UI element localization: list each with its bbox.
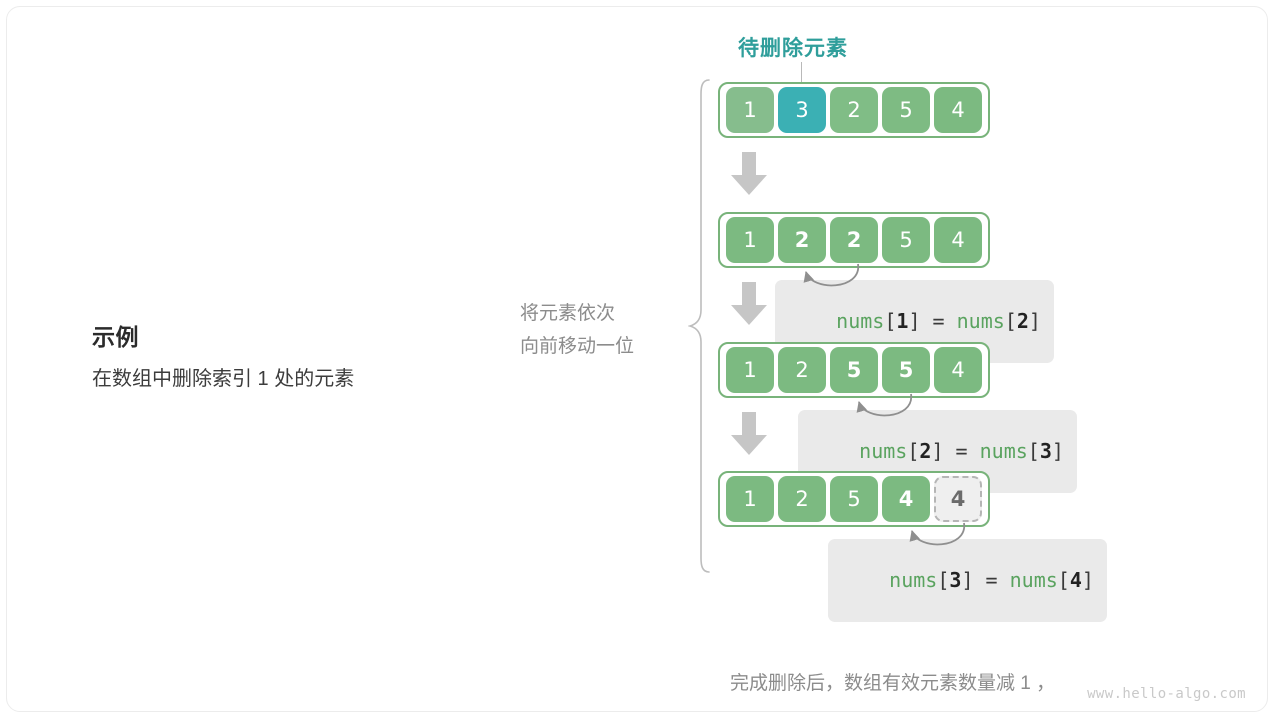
delete-target-label: 待删除元素 [738, 32, 848, 62]
array-cell[interactable]: 2 [830, 87, 878, 133]
array-cell-changed[interactable]: 2 [778, 217, 826, 263]
code-bracket-close: ] [1082, 568, 1094, 592]
example-caption: 示例 在数组中删除索引 1 处的元素 [92, 320, 492, 396]
array-row-step1: 1 2 2 5 4 [718, 212, 990, 268]
code-bracket-open: [ [884, 309, 896, 333]
code-bracket-open: [ [937, 568, 949, 592]
code-identifier: nums [980, 439, 1028, 463]
code-equals: = [973, 568, 1009, 592]
down-arrow-icon [729, 152, 769, 196]
array-cell[interactable]: 5 [830, 476, 878, 522]
array-cell-changed[interactable]: 4 [882, 476, 930, 522]
watermark: www.hello-algo.com [1087, 686, 1246, 702]
array-cell-source[interactable]: 2 [830, 217, 878, 263]
code-equals: = [943, 439, 979, 463]
code-equals: = [920, 309, 956, 333]
array-cell[interactable]: 5 [882, 87, 930, 133]
array-cell[interactable]: 2 [778, 347, 826, 393]
code-bracket-close: ] [1052, 439, 1064, 463]
array-cell[interactable]: 1 [726, 476, 774, 522]
code-index: 3 [1040, 439, 1052, 463]
array-row-initial: 1 3 2 5 4 [718, 82, 990, 138]
array-cell[interactable]: 1 [726, 347, 774, 393]
code-index: 2 [919, 439, 931, 463]
array-row-step2: 1 2 5 5 4 [718, 342, 990, 398]
code-index: 2 [1017, 309, 1029, 333]
array-cell[interactable]: 4 [934, 87, 982, 133]
array-cell[interactable]: 2 [778, 476, 826, 522]
code-bracket-close: ] [961, 568, 973, 592]
example-title: 示例 [92, 320, 492, 354]
example-subtitle: 在数组中删除索引 1 处的元素 [92, 362, 492, 396]
array-cell[interactable]: 4 [934, 347, 982, 393]
code-bracket-open: [ [1005, 309, 1017, 333]
shift-annotation: 将元素依次 向前移动一位 [520, 297, 680, 363]
array-cell[interactable]: 5 [882, 217, 930, 263]
code-bracket-open: [ [1028, 439, 1040, 463]
shift-annotation-line1: 将元素依次 [520, 297, 680, 330]
code-identifier: nums [836, 309, 884, 333]
result-note-line1: 完成删除后，数组有效元素数量减 1 ， [730, 666, 1055, 702]
result-note: 完成删除后，数组有效元素数量减 1 ， 末尾元素 4 已无意义，无需特意修改 [730, 594, 1055, 720]
code-identifier: nums [859, 439, 907, 463]
array-cell[interactable]: 1 [726, 217, 774, 263]
code-bracket-close: ] [908, 309, 920, 333]
array-cell-obsolete[interactable]: 4 [934, 476, 982, 522]
down-arrow-icon [729, 282, 769, 326]
code-index: 1 [896, 309, 908, 333]
code-bracket-open: [ [907, 439, 919, 463]
code-bracket-close: ] [1029, 309, 1041, 333]
grouping-brace [688, 78, 714, 579]
down-arrow-icon [729, 412, 769, 456]
shift-annotation-line2: 向前移动一位 [520, 330, 680, 363]
array-cell-highlighted[interactable]: 3 [778, 87, 826, 133]
code-identifier: nums [1010, 568, 1058, 592]
diagram-canvas: 示例 在数组中删除索引 1 处的元素 将元素依次 向前移动一位 待删除元素 1 … [0, 0, 1280, 720]
code-index: 3 [949, 568, 961, 592]
array-row-step3: 1 2 5 4 4 [718, 471, 990, 527]
array-cell-changed[interactable]: 5 [830, 347, 878, 393]
code-index: 4 [1070, 568, 1082, 592]
array-cell[interactable]: 1 [726, 87, 774, 133]
code-identifier: nums [957, 309, 1005, 333]
array-cell-source[interactable]: 5 [882, 347, 930, 393]
array-cell[interactable]: 4 [934, 217, 982, 263]
code-identifier: nums [889, 568, 937, 592]
code-bracket-close: ] [931, 439, 943, 463]
code-bracket-open: [ [1058, 568, 1070, 592]
